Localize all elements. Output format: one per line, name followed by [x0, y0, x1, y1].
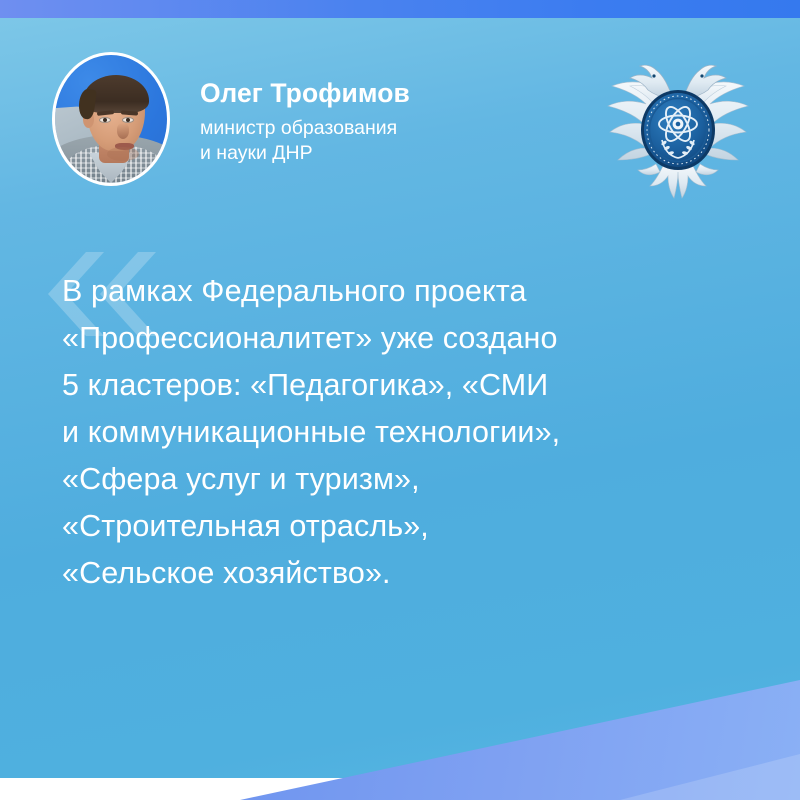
quote-line: и коммуникационные технологии», — [62, 409, 772, 456]
quote-line: «Строительная отрасль», — [62, 503, 772, 550]
quote-text: В рамках Федерального проекта «Профессио… — [62, 268, 772, 597]
avatar — [52, 52, 170, 186]
speaker-role-line-1: министр образования — [200, 116, 410, 142]
portrait-photo — [55, 55, 167, 183]
portrait-eye-left — [99, 117, 111, 123]
quote-line: «Сфера услуг и туризм», — [62, 456, 772, 503]
quote-card: Олег Трофимов министр образования и наук… — [0, 0, 800, 800]
dnr-coat-of-arms-icon — [594, 52, 762, 204]
speaker-role-line-2: и науки ДНР — [200, 141, 410, 167]
quote-line: В рамках Федерального проекта — [62, 268, 772, 315]
card-header: Олег Трофимов министр образования и наук… — [0, 0, 800, 215]
portrait-nose — [117, 123, 129, 139]
quote-line: «Сельское хозяйство». — [62, 550, 772, 597]
quote-line: 5 кластеров: «Педагогика», «СМИ — [62, 362, 772, 409]
portrait-chin — [107, 147, 139, 161]
quote-line: «Профессионалитет» уже создано — [62, 315, 772, 362]
page-title: Олег Трофимов — [200, 80, 410, 107]
speaker-info: Олег Трофимов министр образования и наук… — [200, 80, 410, 167]
